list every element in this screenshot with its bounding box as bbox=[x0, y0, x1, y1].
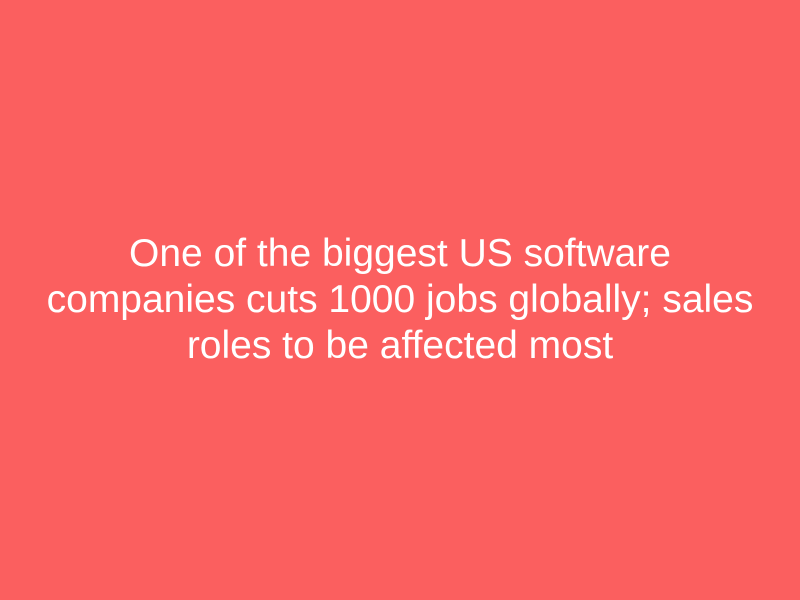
headline-text-block: One of the biggest US software companies… bbox=[44, 231, 756, 369]
headline-card: One of the biggest US software companies… bbox=[0, 0, 800, 600]
headline-title: One of the biggest US software companies… bbox=[44, 231, 756, 369]
